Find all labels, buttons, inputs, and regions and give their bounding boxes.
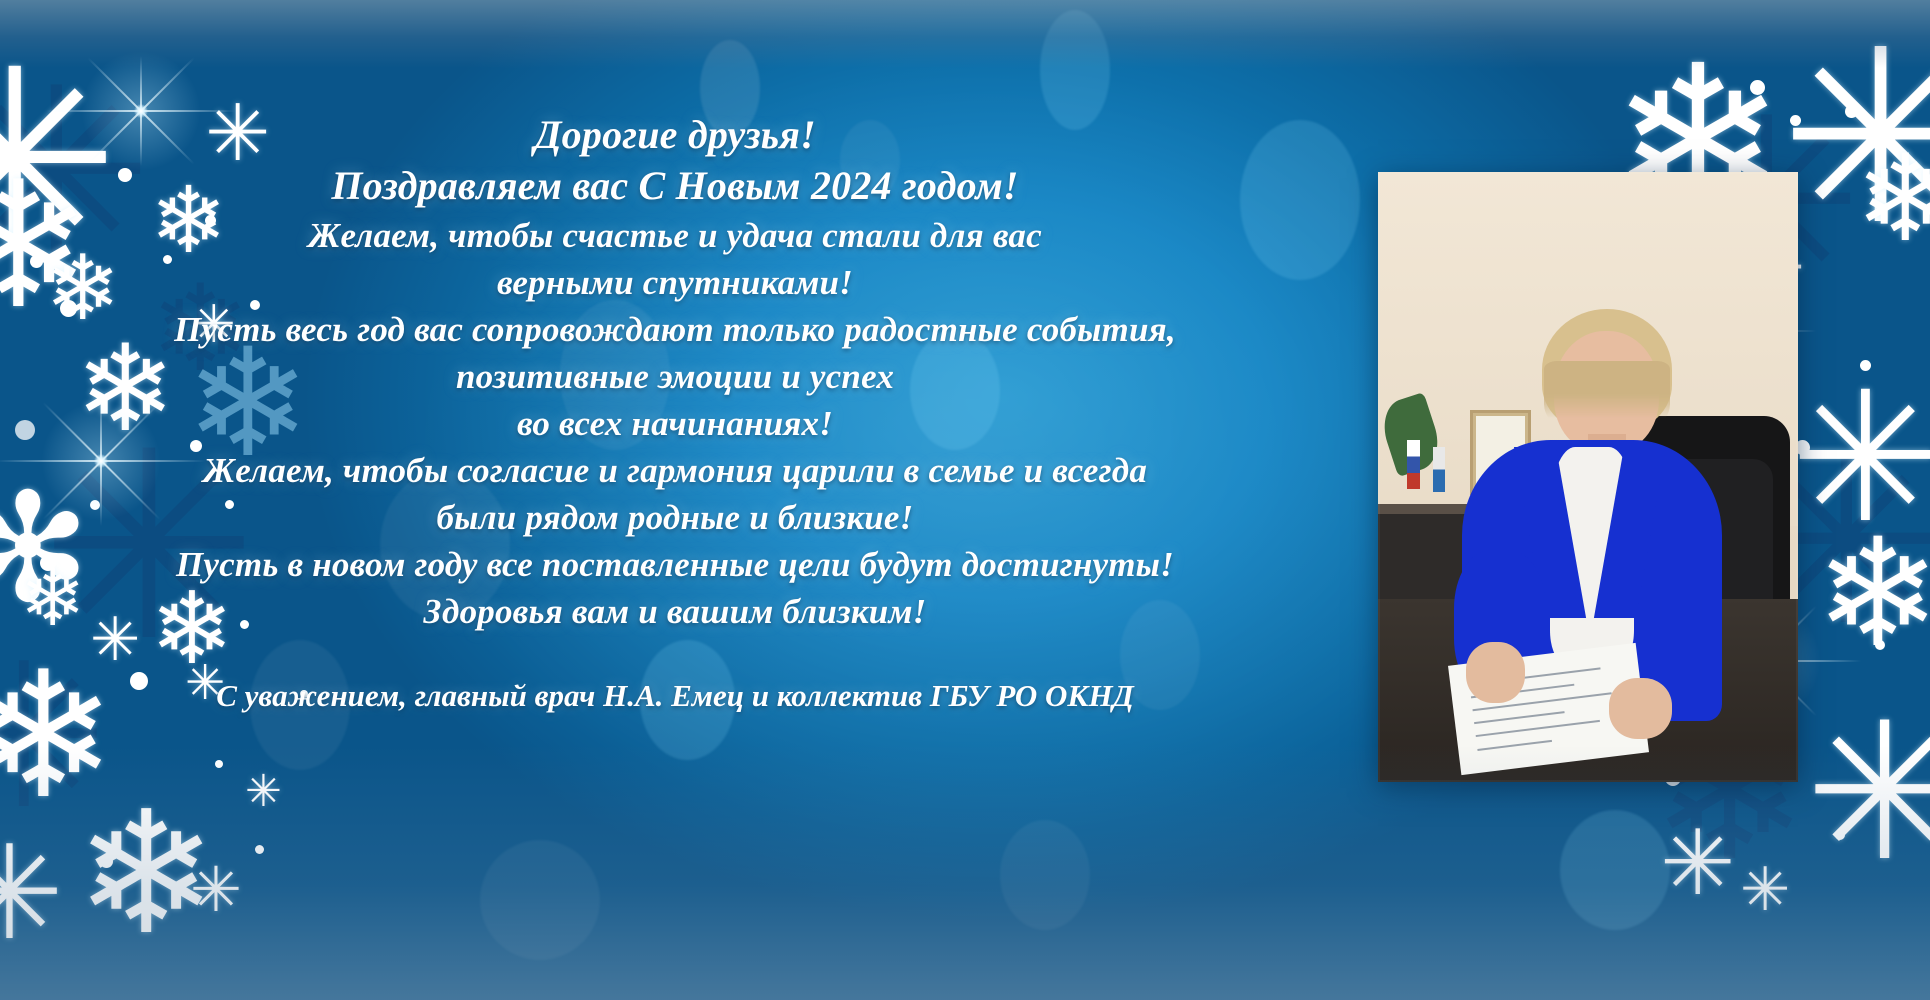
greeting-title-1: Дорогие друзья! (60, 110, 1290, 160)
photo-white-blouse (1550, 447, 1634, 661)
photo-lapel-left (1514, 447, 1586, 618)
greeting-body-line: Здоровья вам и вашим близким! (60, 588, 1290, 635)
greeting-signature: С уважением, главный врач Н.А. Емец и ко… (60, 675, 1290, 717)
greeting-title-2: Поздравляем вас С Новым 2024 годом! (60, 160, 1290, 212)
greeting-body-line: верными спутниками! (60, 259, 1290, 306)
greeting-body-line: Пусть в новом году все поставленные цели… (60, 541, 1290, 588)
greeting-body-line: Желаем, чтобы счастье и удача стали для … (60, 212, 1290, 259)
photo-wall (1378, 172, 1798, 782)
photo-office-chair (1605, 416, 1790, 782)
photo-credenza-top (1378, 504, 1575, 522)
photo-hair (1542, 309, 1672, 431)
new-year-greeting-card: ✳ ❄ ✳ ✳ ❄ ✳ ❄ ❄ ❄ ✳ ❄ ✳ ✻ ❄ ✳ ❄ ❄ ❄ ✳ ✳ … (0, 0, 1930, 1000)
bokeh-circle (1560, 810, 1670, 930)
greeting-text-block: Дорогие друзья! Поздравляем вас С Новым … (60, 110, 1290, 717)
greeting-body-line: во всех начинаниях! (60, 400, 1290, 447)
photo-desk (1378, 599, 1798, 782)
greeting-body-line: были рядом родные и близкие! (60, 494, 1290, 541)
photo-flag-russia (1407, 440, 1420, 489)
greeting-body-line: позитивные эмоции и успех (60, 353, 1290, 400)
photo-flag-region (1433, 447, 1446, 493)
photo-certificate-frame (1470, 410, 1531, 495)
photo-arm-left (1454, 550, 1546, 696)
greeting-body-line: Пусть весь год вас сопровождают только р… (60, 306, 1290, 353)
bokeh-circle (1000, 820, 1090, 930)
photo-face (1554, 331, 1659, 453)
photo-hand-right (1609, 678, 1672, 739)
photo-plant (1378, 392, 1447, 477)
bokeh-circle (480, 840, 600, 960)
photo-credenza (1378, 514, 1571, 648)
photo-document (1448, 643, 1649, 775)
photo-hand-left (1466, 642, 1525, 703)
photo-lapel-right (1594, 447, 1666, 618)
photo-chief-doctor (1378, 172, 1798, 782)
photo-hair-front (1544, 361, 1670, 440)
photo-blue-jacket (1462, 440, 1722, 721)
photo-chair-back (1630, 459, 1773, 703)
greeting-body-line: Желаем, чтобы согласие и гармония царили… (60, 447, 1290, 494)
photo-neck (1588, 434, 1626, 477)
photo-wall-upper (1378, 172, 1798, 526)
